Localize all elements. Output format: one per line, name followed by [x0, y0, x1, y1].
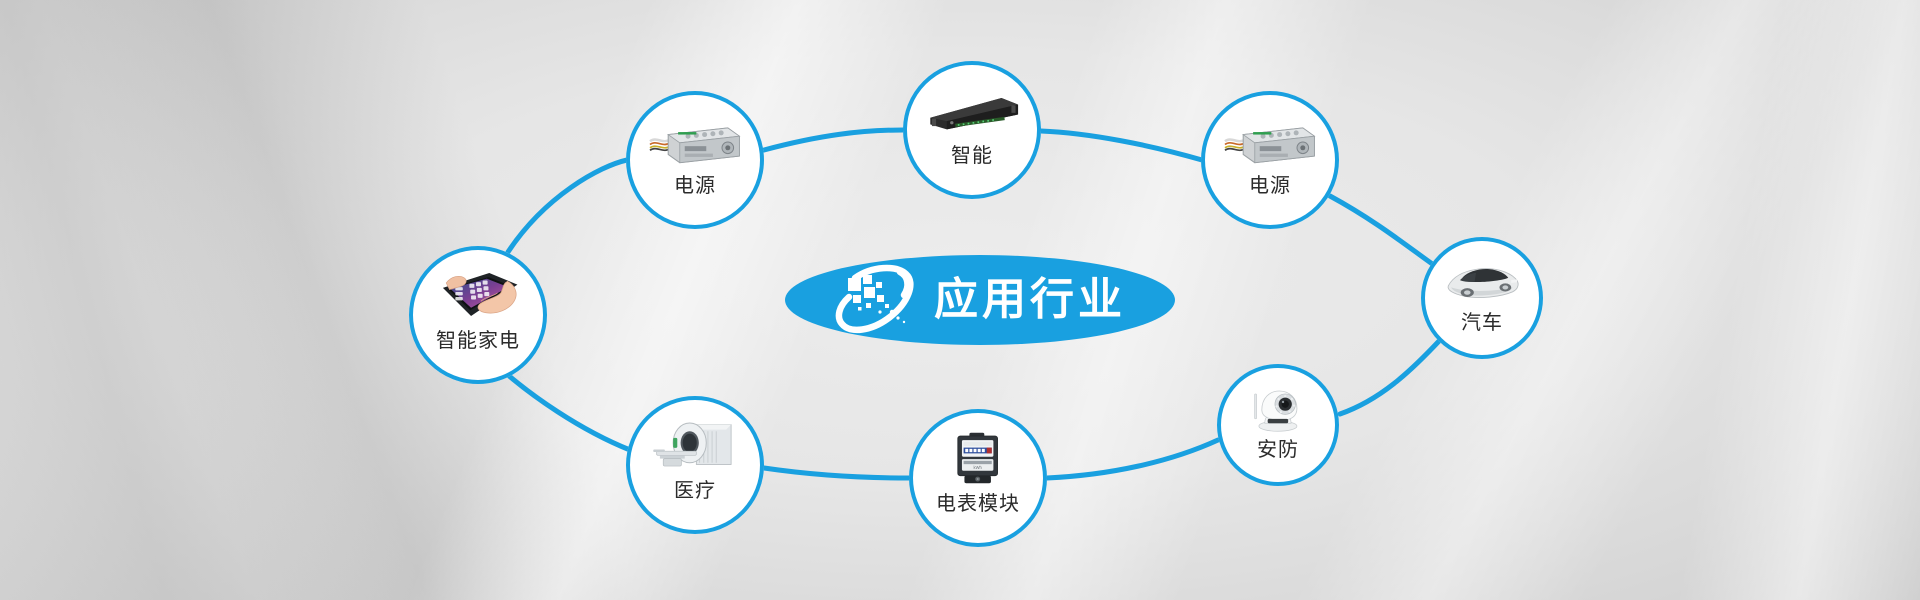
- center-badge-title: 应用行业: [934, 278, 1126, 322]
- node-smart-home[interactable]: 智能家电: [409, 246, 547, 384]
- link-smart-power-right: [1041, 131, 1202, 160]
- node-power-right[interactable]: 电源: [1201, 91, 1339, 229]
- sports-car-icon: [1438, 254, 1526, 308]
- link-smarthome-power-left: [508, 160, 627, 252]
- node-automotive[interactable]: 汽车: [1421, 237, 1543, 359]
- application-industries-banner: .lk{fill:none;stroke:#19a0e0;stroke-widt…: [0, 0, 1920, 600]
- link-security-meter: [1047, 440, 1218, 478]
- electric-meter-icon: kWh: [928, 428, 1027, 489]
- svg-text:kWh: kWh: [974, 465, 983, 470]
- node-label: 电源: [1249, 175, 1291, 197]
- rack-server-icon: [922, 80, 1021, 141]
- node-label: 汽车: [1461, 312, 1503, 334]
- node-meter-module[interactable]: kWh 电表模块: [909, 409, 1047, 547]
- node-medical[interactable]: 医疗: [626, 396, 764, 534]
- node-security[interactable]: 安防: [1217, 364, 1339, 486]
- node-smart[interactable]: 智能: [903, 61, 1041, 199]
- link-power-left-smart: [764, 130, 903, 150]
- tablet-hand-icon: [428, 265, 527, 326]
- swoosh-pixel-logo-icon: [834, 262, 920, 338]
- node-label: 电源: [674, 175, 716, 197]
- node-label: 安防: [1257, 439, 1299, 461]
- link-medical-smarthome: [500, 368, 630, 450]
- link-meter-medical: [764, 468, 909, 478]
- mri-scanner-icon: [645, 415, 744, 476]
- node-label: 智能家电: [436, 330, 520, 352]
- link-power-right-automotive: [1330, 196, 1438, 268]
- center-badge[interactable]: 应用行业: [785, 255, 1175, 345]
- power-supply-unit-icon: [645, 110, 744, 171]
- node-label: 医疗: [674, 480, 716, 502]
- node-label: 智能: [951, 145, 993, 167]
- node-power-left[interactable]: 电源: [626, 91, 764, 229]
- power-supply-unit-icon: [1220, 110, 1319, 171]
- node-label: 电表模块: [936, 493, 1020, 515]
- link-automotive-security: [1340, 340, 1440, 414]
- ip-camera-icon: [1234, 381, 1322, 435]
